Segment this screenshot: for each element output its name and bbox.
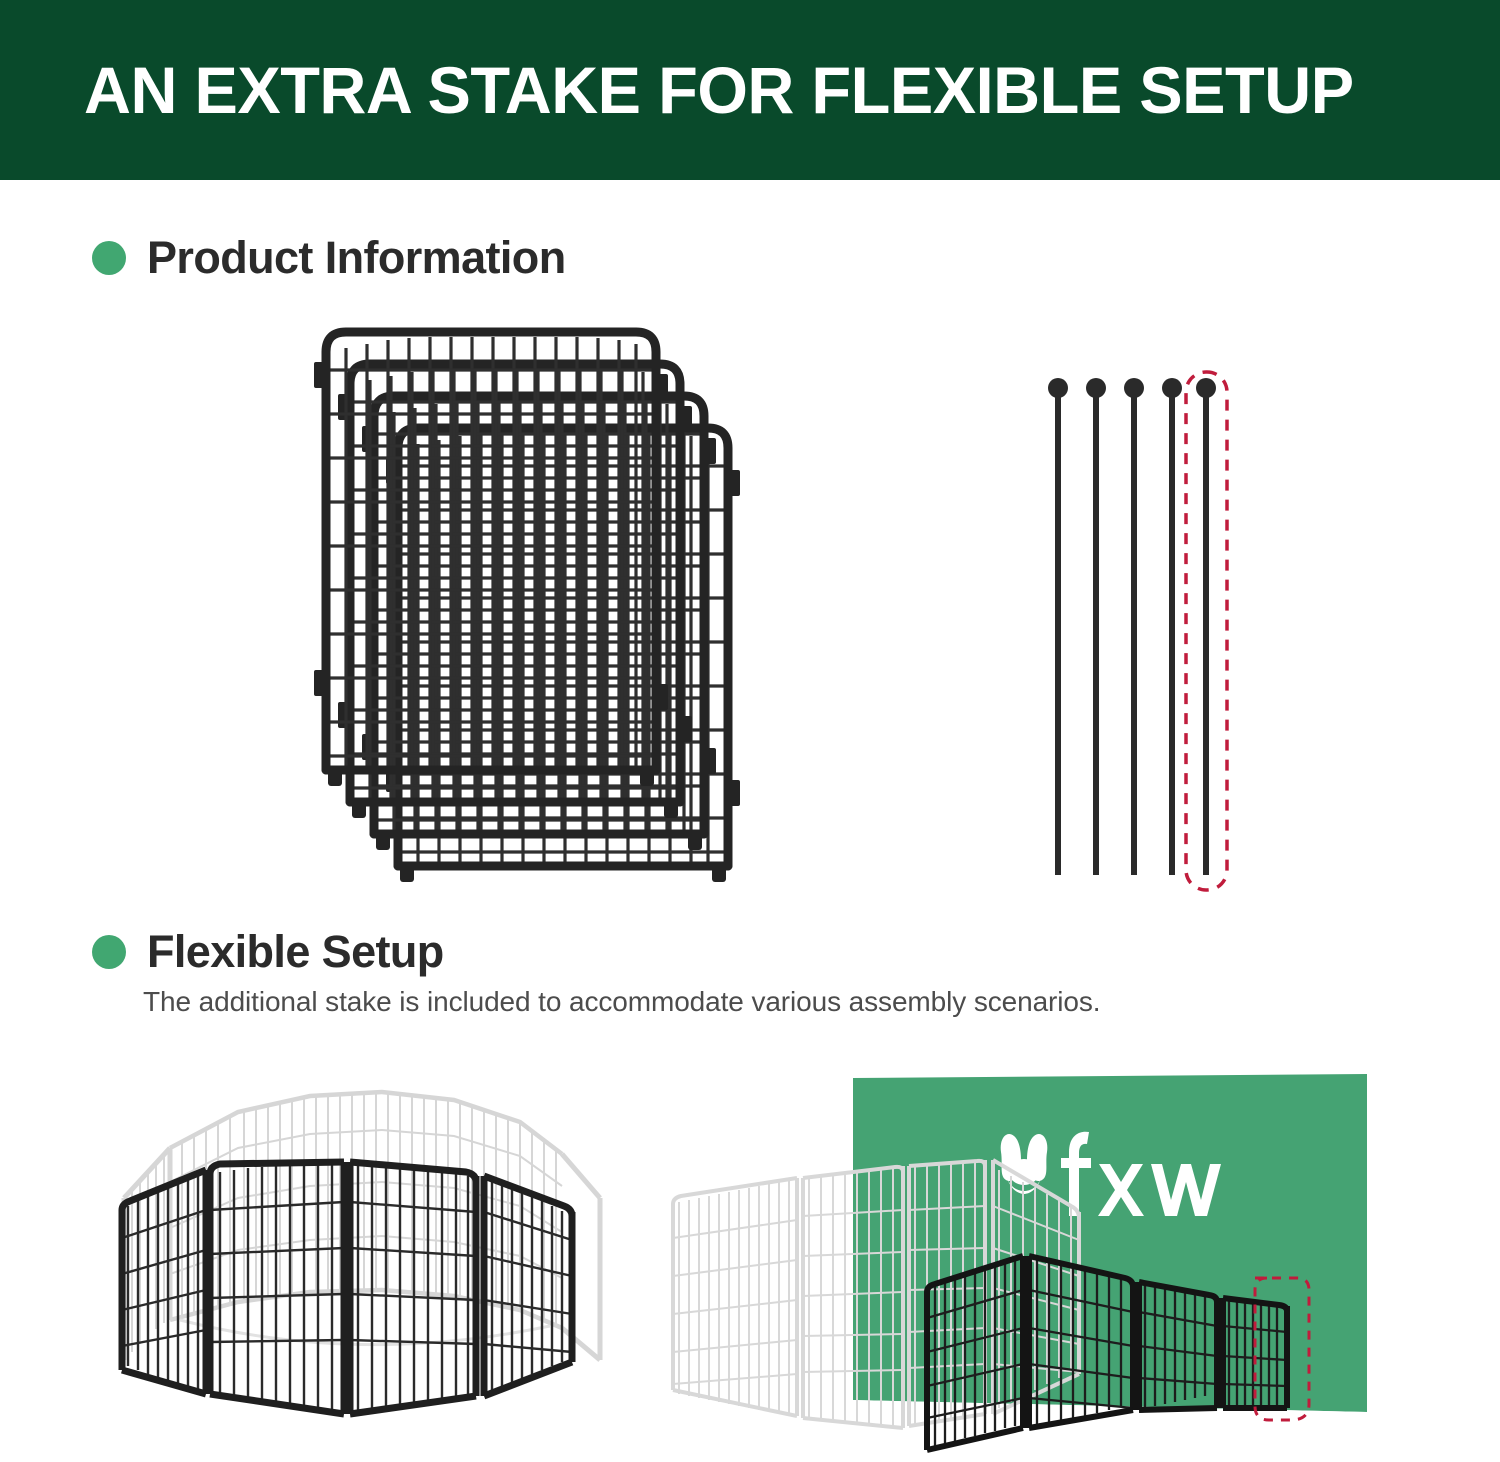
stake (1124, 378, 1144, 875)
stake (1048, 378, 1068, 875)
octagonal-playpen-illustration (110, 1070, 610, 1420)
octagon-pen-svg (110, 1070, 610, 1420)
stake (1162, 378, 1182, 875)
section-heading-label: Product Information (147, 232, 566, 284)
fence-panels-svg (320, 318, 720, 898)
section-heading-label: Flexible Setup (147, 926, 444, 978)
section-heading-flexible-setup: Flexible Setup (92, 926, 444, 978)
wall-setup-illustration (655, 1060, 1400, 1460)
stacked-fence-panels-illustration (320, 318, 720, 898)
header-banner: AN EXTRA STAKE FOR FLEXIBLE SETUP (0, 0, 1500, 180)
section-heading-product-information: Product Information (92, 232, 566, 284)
stake-highlighted (1196, 378, 1216, 875)
bullet-dot-icon (92, 935, 126, 969)
wall-scene-svg (655, 1060, 1400, 1460)
pen-panel-front (350, 1162, 476, 1414)
ground-stakes-illustration (1030, 370, 1240, 890)
stake (1086, 378, 1106, 875)
pen-panel-front (484, 1176, 572, 1396)
section-subtitle: The additional stake is included to acco… (143, 986, 1100, 1018)
page-title: AN EXTRA STAKE FOR FLEXIBLE SETUP (84, 47, 1409, 133)
stakes-svg (1030, 370, 1240, 890)
bullet-dot-icon (92, 241, 126, 275)
